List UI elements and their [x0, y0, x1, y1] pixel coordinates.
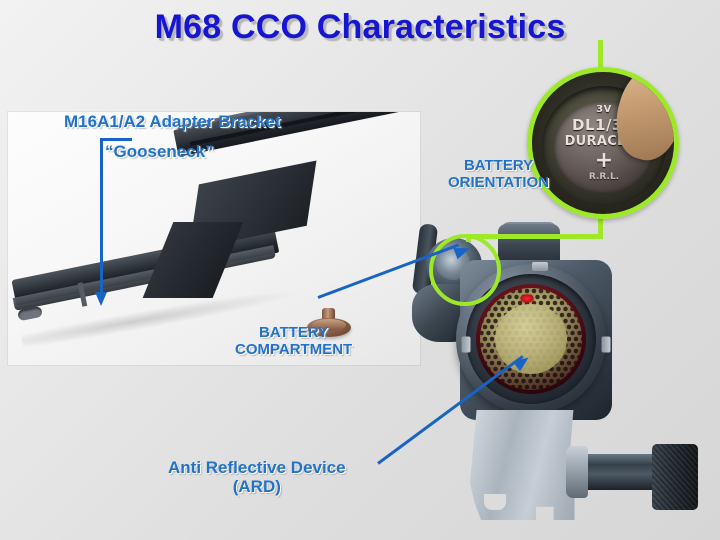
bracket-photo-panel [8, 112, 420, 365]
label-ard-line1: Anti Reflective Device [168, 458, 346, 477]
leader-gooseneck-horizontal [100, 138, 132, 141]
label-ard-line2: (ARD) [168, 477, 346, 496]
label-battery-compartment: BATTERY COMPARTMENT [235, 325, 352, 359]
ard-honeycomb-center [495, 304, 567, 374]
label-battery-orientation-line1: BATTERY [448, 158, 549, 175]
battery-code-text: R.R.L. [554, 172, 654, 182]
label-battery-compartment-line1: BATTERY [235, 325, 352, 342]
label-battery-compartment-line2: COMPARTMENT [235, 342, 352, 359]
optic-thumb-knob [652, 444, 698, 510]
optic-tab-top [532, 262, 548, 271]
optic-mount-notch [484, 494, 506, 510]
label-ard: Anti Reflective Device (ARD) [168, 458, 346, 496]
label-gooseneck: “Gooseneck” [105, 142, 214, 161]
label-adapter-bracket: M16A1/A2 Adapter Bracket [64, 112, 281, 131]
slide-canvas: M68 CCO Characteristics [0, 0, 720, 540]
optic-red-dot [520, 294, 534, 303]
label-battery-orientation: BATTERY ORIENTATION [448, 158, 549, 192]
optic-tab-right [602, 337, 611, 353]
optic-tab-left [462, 337, 471, 353]
battery-closeup-photo: 3V DL1/3N DURACELL + R.R.L. [527, 67, 679, 219]
page-title: M68 CCO Characteristics [0, 8, 720, 47]
green-connector-horizontal [466, 234, 603, 239]
leader-gooseneck-vertical [100, 138, 103, 296]
leader-gooseneck-arrowhead [95, 292, 107, 306]
green-connector-top [598, 40, 603, 70]
label-battery-orientation-line2: ORIENTATION [448, 175, 549, 192]
optic-mount-collar [566, 446, 588, 498]
